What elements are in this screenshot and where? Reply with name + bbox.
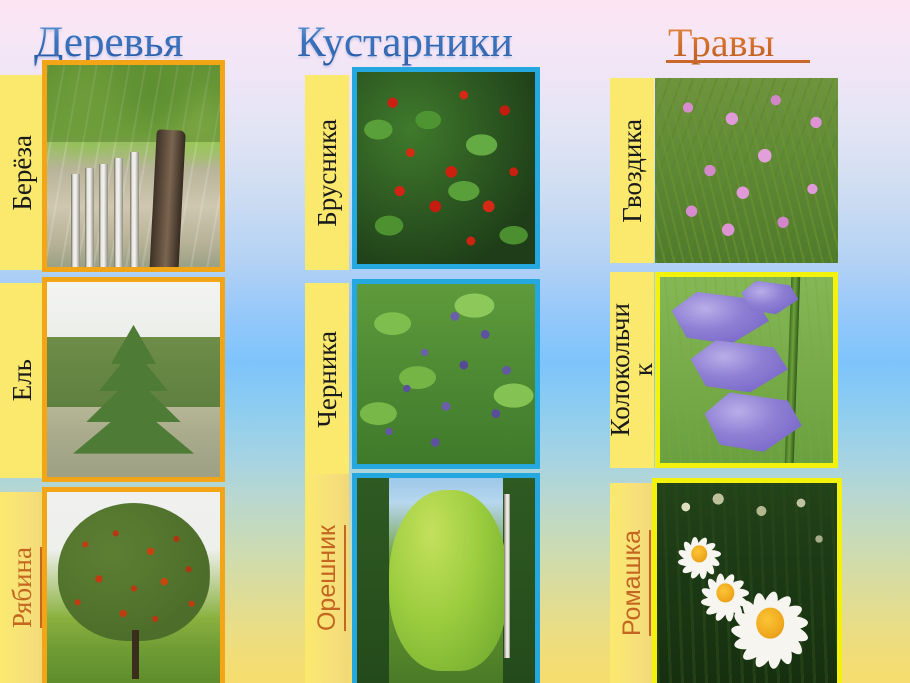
photo-el — [42, 277, 225, 482]
label-romashka: Ромашка — [620, 530, 645, 636]
photo-oreshnik — [352, 473, 540, 683]
photo-gvozdika — [655, 78, 838, 263]
photo-romashka — [652, 478, 842, 683]
label-gvozdika: Гвоздика — [619, 119, 646, 223]
heading-shrubs: Кустарники — [297, 18, 513, 67]
photo-kolokolchik — [655, 272, 838, 468]
photo-ryabina — [42, 487, 225, 683]
label-oreshnik: Орешник — [315, 525, 340, 631]
label-strip-el: Ель — [0, 283, 45, 478]
label-strip-bereza: Берёза — [0, 75, 45, 270]
heading-herbs-underline — [666, 60, 810, 63]
label-brusnika: Брусника — [314, 119, 341, 227]
photo-bereza — [42, 60, 225, 272]
label-strip-oreshnik: Орешник — [305, 474, 349, 683]
photo-chernika — [352, 279, 540, 469]
label-strip-romashka: Ромашка — [610, 483, 654, 683]
photo-brusnika — [352, 67, 540, 269]
label-kolokolchik-line2: к — [630, 363, 657, 376]
heading-herbs: Травы — [668, 19, 774, 66]
label-bereza: Берёза — [9, 135, 36, 211]
label-strip-chernika: Черника — [305, 283, 349, 475]
label-strip-kolokolchik: Колокольчи к — [610, 272, 654, 468]
label-strip-gvozdika: Гвоздика — [610, 78, 654, 263]
label-ryabina: Рябина — [9, 547, 36, 628]
daisy-large — [727, 575, 813, 671]
label-strip-ryabina: Рябина — [0, 492, 45, 683]
label-strip-brusnika: Брусника — [305, 75, 349, 270]
label-el: Ель — [9, 359, 36, 401]
label-chernika: Черника — [314, 331, 341, 428]
